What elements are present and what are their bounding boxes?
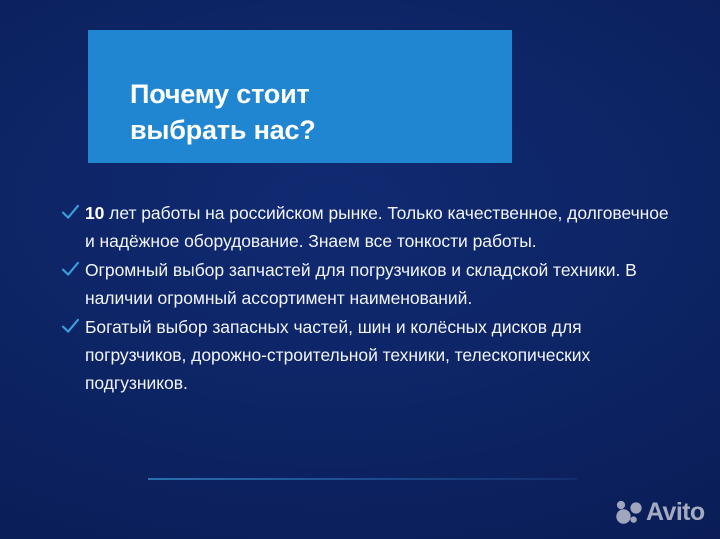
list-item-body: Огромный выбор запчастей для погрузчиков…	[85, 260, 637, 308]
benefits-list: 10 лет работы на российском рынке. Тольк…	[60, 199, 680, 398]
avito-watermark: Avito	[614, 498, 705, 526]
avito-wordmark: Avito	[646, 500, 705, 525]
list-item-body: Богатый выбор запасных частей, шин и кол…	[85, 317, 590, 393]
list-item-text: 10 лет работы на российском рынке. Тольк…	[85, 199, 677, 255]
check-icon	[60, 199, 81, 225]
list-item-text: Огромный выбор запчастей для погрузчиков…	[85, 256, 677, 312]
list-item: Огромный выбор запчастей для погрузчиков…	[60, 256, 680, 312]
avito-dots-icon	[614, 498, 644, 526]
title-banner: Почему стоит выбрать нас?	[88, 30, 512, 163]
slide-canvas: Почему стоит выбрать нас? 10 лет работы …	[0, 0, 720, 539]
list-item: 10 лет работы на российском рынке. Тольк…	[60, 199, 680, 255]
divider	[148, 478, 577, 480]
page-title: Почему стоит выбрать нас?	[130, 76, 316, 148]
list-item: Богатый выбор запасных частей, шин и кол…	[60, 313, 680, 397]
check-icon	[60, 256, 81, 282]
list-item-lead: 10	[85, 203, 104, 223]
list-item-body: лет работы на российском рынке. Только к…	[85, 203, 669, 251]
list-item-text: Богатый выбор запасных частей, шин и кол…	[85, 313, 677, 397]
check-icon	[60, 313, 81, 339]
